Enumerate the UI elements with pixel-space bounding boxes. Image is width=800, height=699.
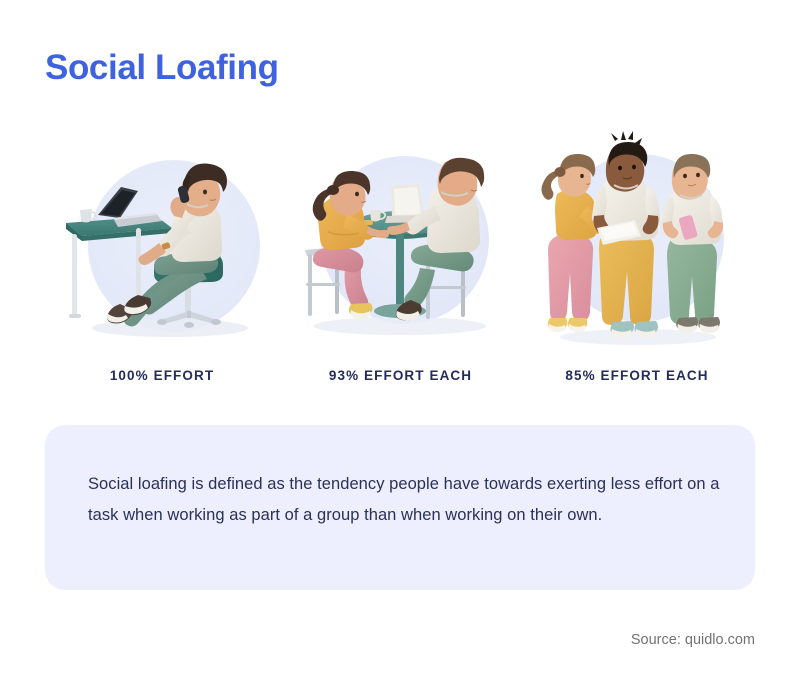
page-title: Social Loafing bbox=[45, 45, 279, 91]
sneaker-left-woman bbox=[349, 303, 373, 319]
panel-pair-illustration bbox=[295, 128, 510, 353]
panel-group-illustration bbox=[535, 128, 745, 353]
illustration-panels bbox=[0, 128, 800, 353]
caption-panel-pair: 93% EFFORT EACH bbox=[298, 368, 503, 383]
definition-text: Social loafing is defined as the tendenc… bbox=[88, 469, 720, 531]
panel-solo-illustration bbox=[58, 128, 288, 353]
source-attribution: Source: quidlo.com bbox=[0, 632, 755, 648]
panel-captions: 100% EFFORT 93% EFFORT EACH 85% EFFORT E… bbox=[0, 368, 800, 390]
definition-callout: Social loafing is defined as the tendenc… bbox=[45, 425, 755, 590]
infographic-page: Social Loafing bbox=[0, 0, 800, 699]
shoes-left-woman bbox=[548, 318, 588, 332]
caption-panel-group: 85% EFFORT EACH bbox=[536, 368, 738, 383]
caption-panel-solo: 100% EFFORT bbox=[62, 368, 262, 383]
